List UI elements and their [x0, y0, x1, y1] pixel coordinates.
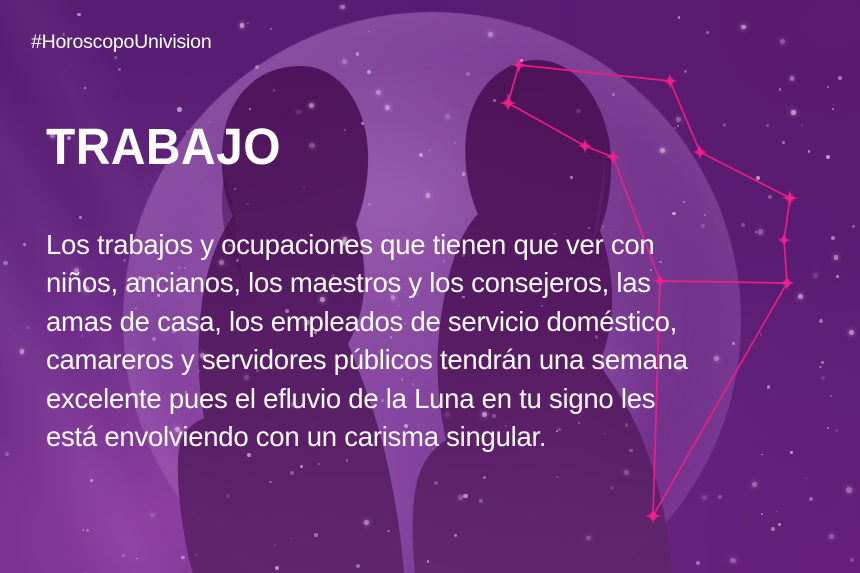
horoscope-card: #HoroscopoUnivision TRABAJO Los trabajos… [0, 0, 860, 573]
body-paragraph: Los trabajos y ocupaciones que tienen qu… [46, 226, 816, 457]
page-title: TRABAJO [46, 120, 281, 174]
card-content: #HoroscopoUnivision TRABAJO Los trabajos… [0, 0, 860, 573]
hashtag-label: #HoroscopoUnivision [31, 31, 211, 54]
